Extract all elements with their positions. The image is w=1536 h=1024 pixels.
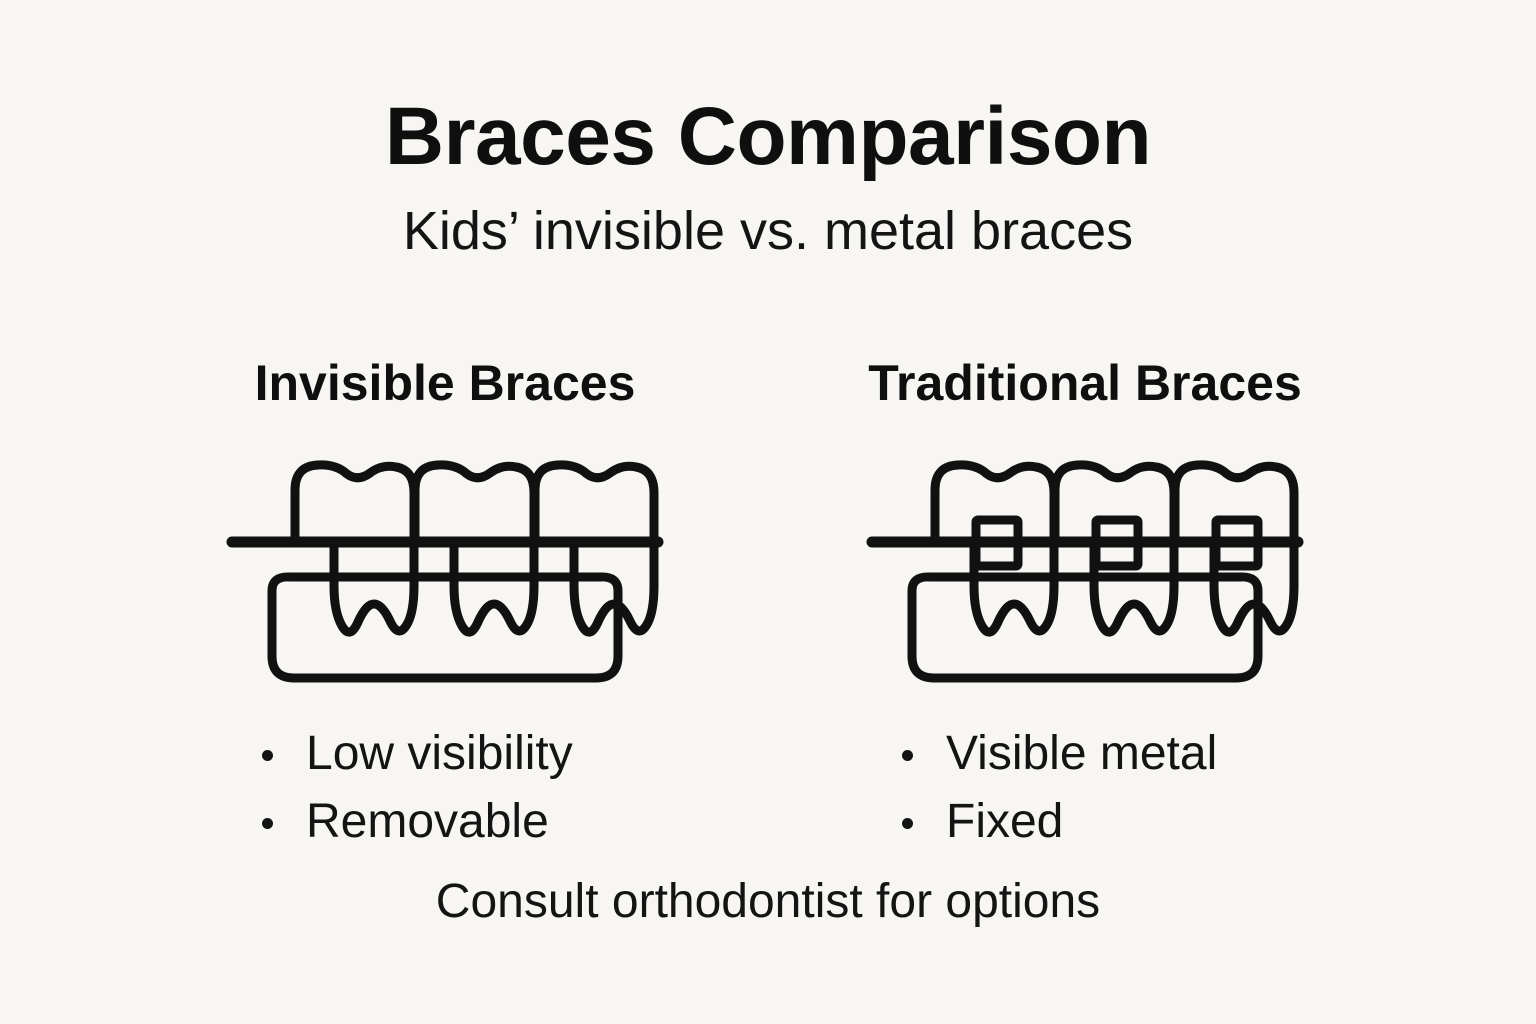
tooth-1 — [935, 465, 1054, 632]
list-item: Low visibility — [256, 720, 680, 788]
bullet-label: Removable — [306, 795, 549, 848]
teeth-with-clear-aligner-wire-icon — [210, 446, 680, 696]
bullet-dot-icon — [262, 750, 273, 761]
bullet-label: Fixed — [946, 795, 1063, 848]
bullet-label: Visible metal — [946, 727, 1217, 780]
page-subtitle: Kids’ invisible vs. metal braces — [0, 178, 1536, 258]
bullet-label: Low visibility — [306, 727, 573, 780]
gum-tray-shape — [912, 577, 1258, 678]
gum-tray-shape — [272, 577, 618, 678]
teeth-with-metal-brackets-icon — [850, 446, 1320, 696]
tooth-2 — [1055, 465, 1174, 632]
column-heading-invisible: Invisible Braces — [210, 358, 680, 408]
column-invisible-braces: Invisible Braces Lo — [210, 358, 680, 856]
comparison-columns: Invisible Braces Lo — [0, 358, 1536, 856]
bullet-list-invisible: Low visibility Removable — [256, 720, 680, 856]
bullet-list-traditional: Visible metal Fixed — [896, 720, 1320, 856]
list-item: Visible metal — [896, 720, 1320, 788]
bullet-dot-icon — [902, 818, 913, 829]
header: Braces Comparison Kids’ invisible vs. me… — [0, 96, 1536, 258]
column-traditional-braces: Traditional Braces — [850, 358, 1320, 856]
footer: Consult orthodontist for options — [0, 878, 1536, 926]
column-heading-traditional: Traditional Braces — [850, 358, 1320, 408]
page-title: Braces Comparison — [0, 96, 1536, 178]
bullet-dot-icon — [902, 750, 913, 761]
tooth-2 — [415, 465, 534, 632]
footer-note: Consult orthodontist for options — [0, 878, 1536, 926]
tooth-3 — [1175, 465, 1294, 632]
bullet-dot-icon — [262, 818, 273, 829]
infographic-poster: Braces Comparison Kids’ invisible vs. me… — [0, 0, 1536, 1024]
list-item: Fixed — [896, 788, 1320, 856]
tooth-3 — [535, 465, 654, 632]
list-item: Removable — [256, 788, 680, 856]
tooth-1 — [295, 465, 414, 632]
